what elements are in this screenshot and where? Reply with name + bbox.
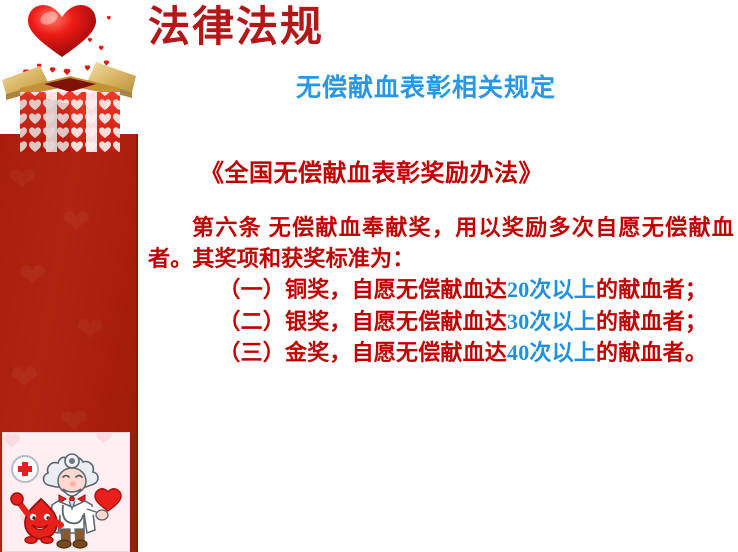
gift-box-image	[0, 0, 140, 150]
page-subtitle: 无偿献血表彰相关规定	[296, 74, 556, 104]
page-title: 法律法规	[148, 4, 324, 54]
award-item-bronze: （一）铜奖，自愿无偿献血达20次以上的献血者；	[148, 274, 734, 305]
article-lead-paragraph: 第六条 无偿献血奉献奖，用以奖励多次自愿无偿献血者。其奖项和获奖标准为：	[148, 212, 734, 274]
award-item-bronze-unit: 次以上	[529, 277, 596, 302]
slide-canvas: ❤ ❤ ❤ ❤ ❤ ❤	[0, 0, 738, 552]
heart-icon	[28, 5, 96, 57]
red-cross-icon	[12, 456, 38, 482]
panel-edge-divider	[136, 134, 138, 552]
award-item-gold-suffix: 的献血者。	[596, 340, 707, 365]
cartoon-doctor-image	[2, 432, 130, 552]
heart-icon: ❤	[76, 314, 105, 348]
award-item-silver-prefix: （二）银奖，自愿无偿献血达	[218, 309, 507, 334]
award-item-silver: （二）银奖，自愿无偿献血达30次以上的献血者；	[148, 306, 734, 337]
heart-icon: ❤	[62, 206, 91, 240]
award-item-bronze-suffix: 的献血者；	[596, 277, 707, 302]
award-item-bronze-prefix: （一）铜奖，自愿无偿献血达	[218, 277, 507, 302]
heart-icon: ❤	[8, 164, 37, 198]
award-item-gold-unit: 次以上	[529, 340, 596, 365]
award-item-bronze-count: 20	[507, 277, 529, 302]
heart-icon: ❤	[18, 260, 47, 294]
award-item-silver-count: 30	[507, 309, 529, 334]
award-item-gold-count: 40	[507, 340, 529, 365]
award-item-gold-prefix: （三）金奖，自愿无偿献血达	[218, 340, 507, 365]
award-item-silver-unit: 次以上	[529, 309, 596, 334]
award-item-gold: （三）金奖，自愿无偿献血达40次以上的献血者。	[148, 337, 734, 368]
article-body: 第六条 无偿献血奉献奖，用以奖励多次自愿无偿献血者。其奖项和获奖标准为： （一）…	[148, 212, 734, 368]
document-title: 《全国无偿献血表彰奖励办法》	[200, 160, 543, 189]
heart-icon: ❤	[10, 362, 39, 396]
award-item-silver-suffix: 的献血者；	[596, 309, 707, 334]
